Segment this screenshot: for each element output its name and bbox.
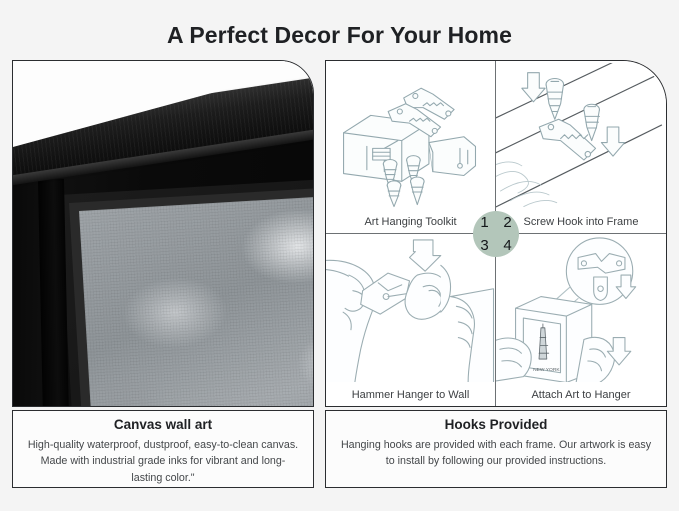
right-caption-box: Hooks Provided Hanging hooks are provide… bbox=[325, 410, 667, 488]
step-3-label: Hammer Hanger to Wall bbox=[326, 389, 495, 401]
instruction-step-2: Screw Hook into Frame bbox=[496, 61, 666, 234]
left-caption-title: Canvas wall art bbox=[27, 417, 299, 432]
right-caption-body: Hanging hooks are provided with each fra… bbox=[340, 437, 652, 470]
toolkit-illustration bbox=[326, 63, 495, 209]
step-number-badge: 1 2 3 4 bbox=[473, 211, 519, 257]
screw-hook-illustration bbox=[496, 63, 666, 209]
right-caption-title: Hooks Provided bbox=[340, 417, 652, 432]
hanging-instructions-panel: Art Hanging Toolkit bbox=[325, 60, 667, 407]
canvas-product-photo-panel bbox=[12, 60, 314, 407]
badge-number-1: 1 bbox=[480, 215, 488, 230]
instruction-step-1: Art Hanging Toolkit bbox=[326, 61, 496, 234]
left-caption-body: High-quality waterproof, dustproof, easy… bbox=[27, 437, 299, 486]
instruction-step-3: Hammer Hanger to Wall bbox=[326, 234, 496, 407]
attach-art-illustration: NEW YORK bbox=[496, 236, 666, 383]
hammer-hanger-illustration bbox=[326, 236, 495, 383]
svg-text:NEW YORK: NEW YORK bbox=[533, 366, 560, 372]
step-1-label: Art Hanging Toolkit bbox=[326, 216, 495, 228]
left-caption-box: Canvas wall art High-quality waterproof,… bbox=[12, 410, 314, 488]
framed-canvas-photo bbox=[13, 61, 313, 406]
step-4-label: Attach Art to Hanger bbox=[496, 389, 666, 401]
instruction-step-4: NEW YORK bbox=[496, 234, 666, 407]
step-2-label: Screw Hook into Frame bbox=[496, 216, 666, 228]
canvas-artwork-surface bbox=[79, 193, 314, 407]
page-title: A Perfect Decor For Your Home bbox=[0, 22, 679, 49]
badge-number-3: 3 bbox=[480, 238, 488, 253]
badge-number-4: 4 bbox=[503, 238, 511, 253]
infographic-page: A Perfect Decor For Your Home bbox=[0, 0, 679, 511]
badge-number-2: 2 bbox=[503, 215, 511, 230]
